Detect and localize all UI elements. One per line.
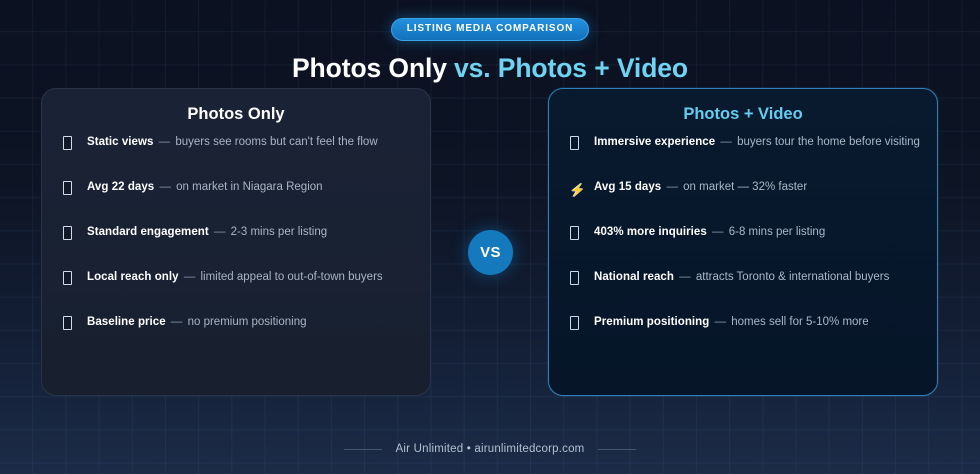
tofu-box-icon (63, 315, 87, 333)
card-left-list: Static views — buyers see rooms but can'… (42, 135, 430, 360)
list-item: Avg 22 days — on market in Niagara Regio… (42, 180, 430, 225)
list-item: Immersive experience — buyers tour the h… (549, 135, 937, 180)
list-item-dash: — (159, 136, 171, 148)
tofu-box-icon (63, 135, 87, 153)
list-item-label: Premium positioning (594, 316, 709, 328)
card-left-title: Photos Only (42, 104, 430, 124)
list-item-text: Standard engagement — 2-3 mins per listi… (87, 225, 327, 240)
vs-badge: VS (468, 230, 513, 275)
list-item-desc: on market in Niagara Region (176, 181, 322, 193)
comparison-infographic: LISTING MEDIA COMPARISON Photos Onlyvs. … (0, 0, 980, 474)
list-item-desc: homes sell for 5-10% more (731, 316, 868, 328)
list-item-text: Avg 22 days — on market in Niagara Regio… (87, 180, 323, 195)
list-item-dash: — (679, 271, 691, 283)
list-item-desc: buyers see rooms but can't feel the flow (175, 136, 377, 148)
list-item-label: Avg 15 days (594, 181, 661, 193)
list-item-text: Immersive experience — buyers tour the h… (594, 135, 920, 150)
tofu-box-icon (63, 180, 87, 198)
tofu-box-icon (63, 270, 87, 288)
list-item-dash: — (184, 271, 196, 283)
list-item-text: Local reach only — limited appeal to out… (87, 270, 383, 285)
header: LISTING MEDIA COMPARISON Photos Onlyvs. … (0, 0, 980, 83)
list-item-dash: — (171, 316, 183, 328)
list-item-text: Static views — buyers see rooms but can'… (87, 135, 378, 150)
list-item-text: 403% more inquiries — 6-8 mins per listi… (594, 225, 825, 240)
list-item-desc: limited appeal to out-of-town buyers (200, 271, 382, 283)
list-item: National reach — attracts Toronto & inte… (549, 270, 937, 315)
page-title: Photos Onlyvs. Photos + Video (0, 53, 980, 83)
list-item-dash: — (214, 226, 226, 238)
list-item-text: Baseline price — no premium positioning (87, 315, 307, 330)
list-item-dash: — (666, 181, 678, 193)
list-item-text: Avg 15 days — on market — 32% faster (594, 180, 807, 195)
tofu-box-icon (63, 225, 87, 243)
section-badge: LISTING MEDIA COMPARISON (391, 18, 590, 41)
list-item: Premium positioning — homes sell for 5-1… (549, 315, 937, 360)
footer-rule-right (598, 449, 636, 450)
list-item-label: 403% more inquiries (594, 226, 707, 238)
list-item-desc: attracts Toronto & international buyers (696, 271, 889, 283)
lightning-bolt-icon: ⚡ (570, 180, 594, 197)
list-item-desc: no premium positioning (188, 316, 307, 328)
list-item: Local reach only — limited appeal to out… (42, 270, 430, 315)
card-right-title: Photos + Video (549, 104, 937, 124)
tofu-box-icon (570, 135, 594, 153)
list-item-text: National reach — attracts Toronto & inte… (594, 270, 889, 285)
footer-rule-left (344, 449, 382, 450)
page-title-primary: Photos Only (292, 53, 447, 83)
list-item-dash: — (720, 136, 732, 148)
card-photos-plus-video: Photos + Video Immersive experience — bu… (548, 88, 938, 396)
list-item-desc: 2-3 mins per listing (231, 226, 328, 238)
card-right-list: Immersive experience — buyers tour the h… (549, 135, 937, 360)
list-item-label: Baseline price (87, 316, 166, 328)
list-item: Standard engagement — 2-3 mins per listi… (42, 225, 430, 270)
list-item-label: National reach (594, 271, 674, 283)
tofu-box-icon (570, 315, 594, 333)
list-item-label: Static views (87, 136, 153, 148)
list-item: 403% more inquiries — 6-8 mins per listi… (549, 225, 937, 270)
footer: Air Unlimited • airunlimitedcorp.com (0, 442, 980, 456)
list-item-label: Local reach only (87, 271, 179, 283)
list-item-label: Avg 22 days (87, 181, 154, 193)
card-photos-only: Photos Only Static views — buyers see ro… (41, 88, 431, 396)
list-item-label: Immersive experience (594, 136, 715, 148)
tofu-box-icon (570, 270, 594, 288)
list-item: Baseline price — no premium positioning (42, 315, 430, 360)
list-item: ⚡ Avg 15 days — on market — 32% faster (549, 180, 937, 225)
list-item-label: Standard engagement (87, 226, 209, 238)
list-item-dash: — (712, 226, 724, 238)
list-item: Static views — buyers see rooms but can'… (42, 135, 430, 180)
list-item-desc: 6-8 mins per listing (729, 226, 826, 238)
page-title-secondary: vs. Photos + Video (454, 53, 688, 83)
list-item-desc: buyers tour the home before visiting (737, 136, 920, 148)
list-item-desc: on market — 32% faster (683, 181, 807, 193)
footer-text: Air Unlimited • airunlimitedcorp.com (396, 442, 585, 456)
list-item-dash: — (715, 316, 727, 328)
list-item-dash: — (159, 181, 171, 193)
list-item-text: Premium positioning — homes sell for 5-1… (594, 315, 869, 330)
tofu-box-icon (570, 225, 594, 243)
